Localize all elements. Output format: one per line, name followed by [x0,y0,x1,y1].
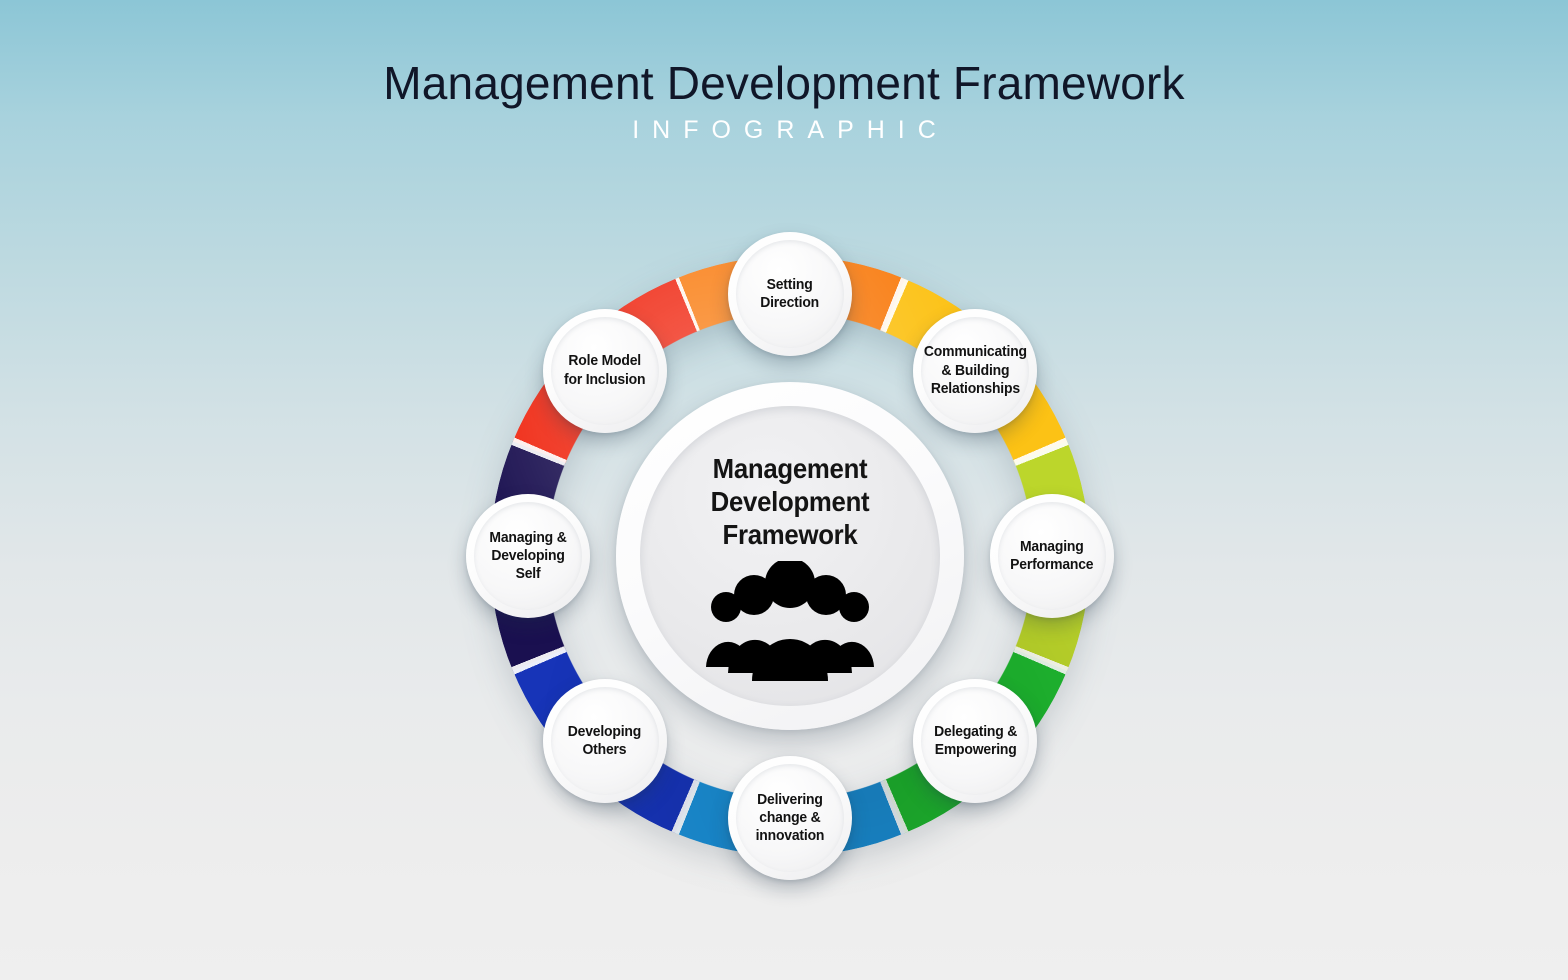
node-face: Delivering change & innovation [736,764,844,872]
node-developing-others[interactable]: Developing Others [543,679,667,803]
node-label: Communicating & Building Relationships [924,343,1027,398]
node-label: Setting Direction [761,276,820,313]
node-label: Delivering change & innovation [756,791,825,846]
node-face: Communicating & Building Relationships [921,317,1029,425]
node-managing-performance[interactable]: Managing Performance [990,494,1114,618]
node-delivering-change[interactable]: Delivering change & innovation [728,756,852,880]
header: Management Development Framework INFOGRA… [0,58,1568,145]
center-hub[interactable]: Management Development Framework [616,382,964,730]
node-managing-self[interactable]: Managing & Developing Self [466,494,590,618]
node-communicating[interactable]: Communicating & Building Relationships [913,309,1037,433]
node-label: Delegating & Empowering [934,723,1017,760]
node-delegating[interactable]: Delegating & Empowering [913,679,1037,803]
node-face: Role Model for Inclusion [551,317,659,425]
node-face: Managing & Developing Self [474,502,582,610]
node-label: Managing Performance [1010,538,1093,575]
node-label: Role Model for Inclusion [564,352,645,389]
node-label: Managing & Developing Self [483,529,572,584]
page-subtitle: INFOGRAPHIC [0,116,1568,145]
node-label: Developing Others [568,723,641,760]
node-face: Managing Performance [998,502,1106,610]
node-face: Setting Direction [736,240,844,348]
node-face: Delegating & Empowering [921,687,1029,795]
center-hub-face: Management Development Framework [640,406,940,706]
node-setting-direction[interactable]: Setting Direction [728,232,852,356]
page-title: Management Development Framework [0,58,1568,110]
center-title: Management Development Framework [652,452,928,551]
node-role-model[interactable]: Role Model for Inclusion [543,309,667,433]
framework-wheel: Management Development Framework [490,256,1090,856]
people-group-icon [704,561,876,690]
node-face: Developing Others [551,687,659,795]
